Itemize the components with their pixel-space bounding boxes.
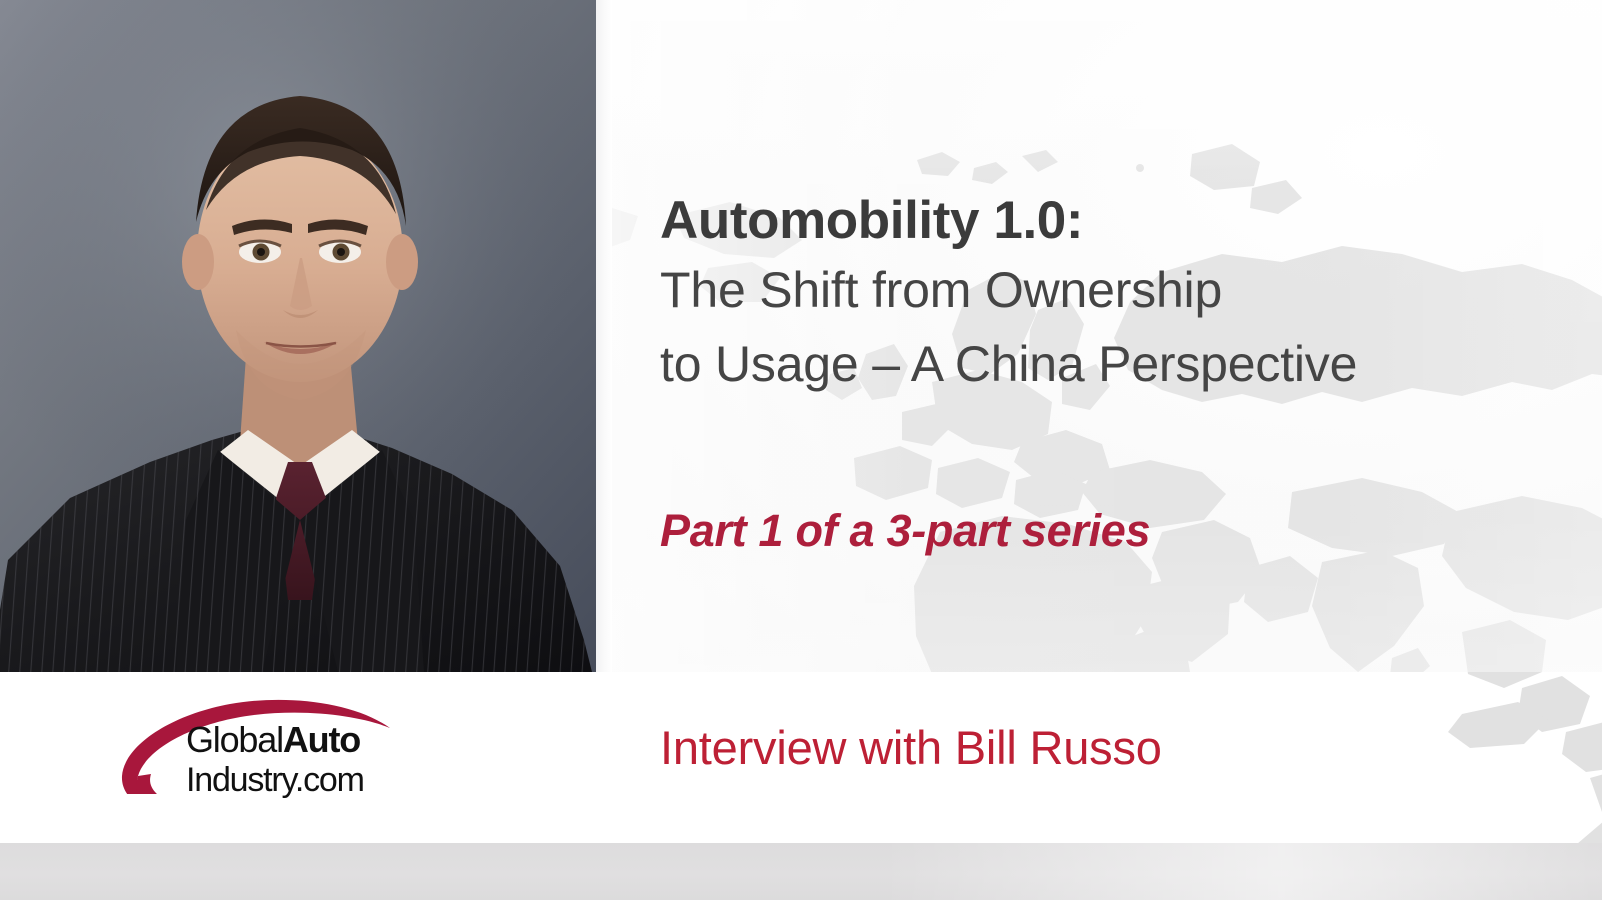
- video-title-card: Automobility 1.0: The Shift from Ownersh…: [0, 0, 1602, 900]
- brand-logo-line-1: GlobalAuto: [186, 722, 364, 758]
- bottom-grey-strip: [0, 843, 1602, 900]
- brand-logo[interactable]: GlobalAuto Industry.com: [118, 698, 418, 810]
- panel-divider: [596, 0, 612, 672]
- brand-word-global: Global: [186, 719, 283, 760]
- page-title: Automobility 1.0:: [660, 192, 1560, 249]
- portrait-photo: [0, 0, 596, 672]
- brand-logo-line-2: Industry.com: [186, 763, 364, 797]
- series-note: Part 1 of a 3-part series: [660, 505, 1150, 557]
- footer-bar: GlobalAuto Industry.com Interview with B…: [0, 672, 1602, 843]
- subtitle-line-2: to Usage – A China Perspective: [660, 332, 1560, 397]
- grey-strip-sheen: [0, 843, 1602, 900]
- brand-logo-text: GlobalAuto Industry.com: [186, 722, 364, 797]
- title-block: Automobility 1.0: The Shift from Ownersh…: [660, 192, 1560, 397]
- subtitle-line-1: The Shift from Ownership: [660, 258, 1560, 323]
- interview-subtitle: Interview with Bill Russo: [660, 720, 1162, 775]
- brand-word-auto: Auto: [283, 719, 360, 760]
